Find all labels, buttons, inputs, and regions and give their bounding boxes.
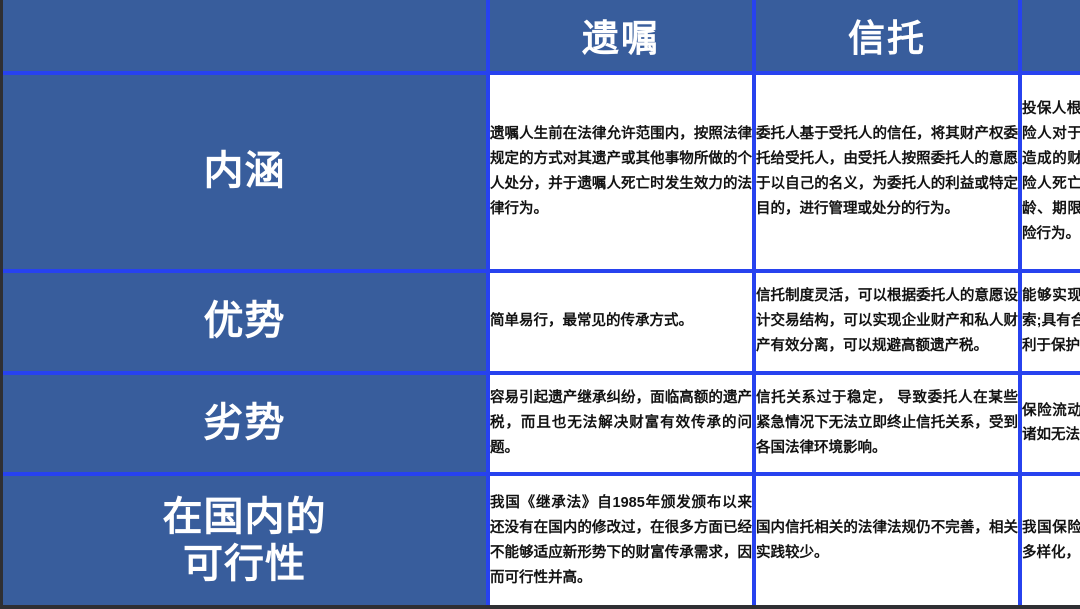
cell-trust-advantages: 信托制度灵活，可以根据委托人的意愿设计交易结构，可以实现企业财产和私人财产有效分… xyxy=(756,273,1022,375)
row-label-connotation: 内涵 xyxy=(3,75,490,273)
cell-will-advantages: 简单易行，最常见的传承方式。 xyxy=(490,273,756,375)
cell-will-domestic-feasibility: 我国《继承法》自1985年颁发颁布以来还没有在国内的修改过，在很多方面已经不能够… xyxy=(490,476,756,605)
cell-will-disadvantages: 容易引起遗产继承纠纷，面临高额的遗产税，而且也无法解决财富有效传承的问题。 xyxy=(490,375,756,477)
cell-insurance-disadvantages: 保险流动性较低，无法实现更多财富传承目的，诸如无法解决企业管理继承问题。 xyxy=(1022,375,1080,477)
cell-insurance-domestic-feasibility: 我国保险法律法规较为完善，保险公司相关服务多样化，实施可行性较高。 xyxy=(1022,476,1080,605)
header-corner-cell xyxy=(3,0,490,75)
cell-will-connotation: 遗嘱人生前在法律允许范围内，按照法律规定的方式对其遗产或其他事物所做的个人处分，… xyxy=(490,75,756,273)
row-label-disadvantages: 劣势 xyxy=(3,375,490,477)
table-row: 劣势 容易引起遗产继承纠纷，面临高额的遗产税，而且也无法解决财富有效传承的问题。… xyxy=(3,375,1080,477)
row-label-line-1: 在国内的 xyxy=(3,494,486,540)
row-label-domestic-feasibility: 在国内的 可行性 xyxy=(3,476,490,605)
cell-trust-connotation: 委托人基于受托人的信任，将其财产权委托给受托人，由受托人按照委托人的意愿于以自己… xyxy=(756,75,1022,273)
comparison-table-container: 遗嘱 信托 保险 内涵 遗嘱人生前在法律允许范围内，按照法律规定的方式对其遗产或… xyxy=(0,0,1080,609)
column-header-will: 遗嘱 xyxy=(490,0,756,75)
table-row: 优势 简单易行，最常见的传承方式。 信托制度灵活，可以根据委托人的意愿设计交易结… xyxy=(3,273,1080,375)
table-row: 在国内的 可行性 我国《继承法》自1985年颁发颁布以来还没有在国内的修改过，在… xyxy=(3,476,1080,605)
column-header-trust: 信托 xyxy=(756,0,1022,75)
comparison-table: 遗嘱 信托 保险 内涵 遗嘱人生前在法律允许范围内，按照法律规定的方式对其遗产或… xyxy=(3,0,1080,605)
table-row: 内涵 遗嘱人生前在法律允许范围内，按照法律规定的方式对其遗产或其他事物所做的个人… xyxy=(3,75,1080,273)
cell-trust-domestic-feasibility: 国内信托相关的法律法规仍不完善，相关实践较少。 xyxy=(756,476,1022,605)
column-header-insurance: 保险 xyxy=(1022,0,1080,75)
row-label-advantages: 优势 xyxy=(3,273,490,375)
row-label-line-2: 可行性 xyxy=(3,541,486,587)
cell-trust-disadvantages: 信托关系过于稳定， 导致委托人在某些紧急情况下无法立即终止信托关系，受到各国法律… xyxy=(756,375,1022,477)
cell-insurance-advantages: 能够实现财富有效传承，受益资产不受债权人追索;具有合理避税功能;资产转移至受益人… xyxy=(1022,273,1080,375)
table-header-row: 遗嘱 信托 保险 xyxy=(3,0,1080,75)
cell-insurance-connotation: 投保人根据合同约定，向保险人支付保险费， 保险人对于合同约定的可能发生的事故因其… xyxy=(1022,75,1080,273)
